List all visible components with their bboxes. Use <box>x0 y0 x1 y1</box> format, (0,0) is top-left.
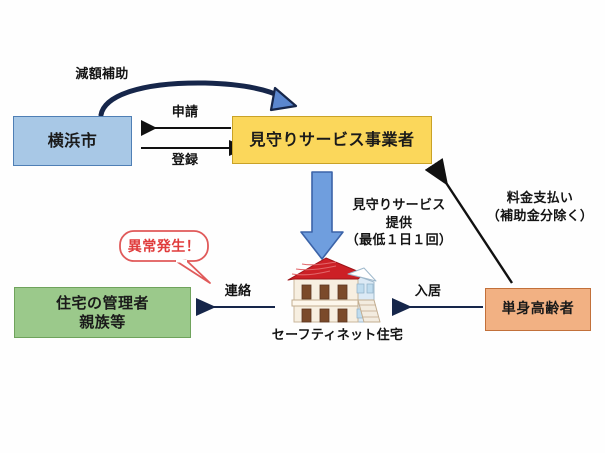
label-service-provision: 見守りサービス 提供 （最低１日１回） <box>334 197 464 250</box>
node-watch-service-provider[interactable]: 見守りサービス事業者 <box>232 116 432 164</box>
label-move-in: 入居 <box>403 283 453 301</box>
house-icon <box>278 252 390 330</box>
node-housing-manager[interactable]: 住宅の管理者 親族等 <box>14 287 191 338</box>
node-yokohama-city[interactable]: 横浜市 <box>13 116 132 166</box>
label-fee-payment: 料金支払い （補助金分除く） <box>478 190 602 225</box>
node-single-elderly[interactable]: 単身高齢者 <box>485 288 591 331</box>
label-registration: 登録 <box>155 152 215 170</box>
label-application: 申請 <box>155 104 215 122</box>
label-contact: 連絡 <box>210 283 266 301</box>
diagram-canvas: 横浜市 見守りサービス事業者 住宅の管理者 親族等 単身高齢者 減額補助 申請 … <box>0 0 605 453</box>
label-subsidy: 減額補助 <box>52 66 152 84</box>
node-housing-manager-line1: 住宅の管理者 <box>56 294 149 313</box>
node-housing-manager-line2: 親族等 <box>79 313 126 332</box>
alert-abnormality-callout: 異常発生！ <box>120 232 208 260</box>
